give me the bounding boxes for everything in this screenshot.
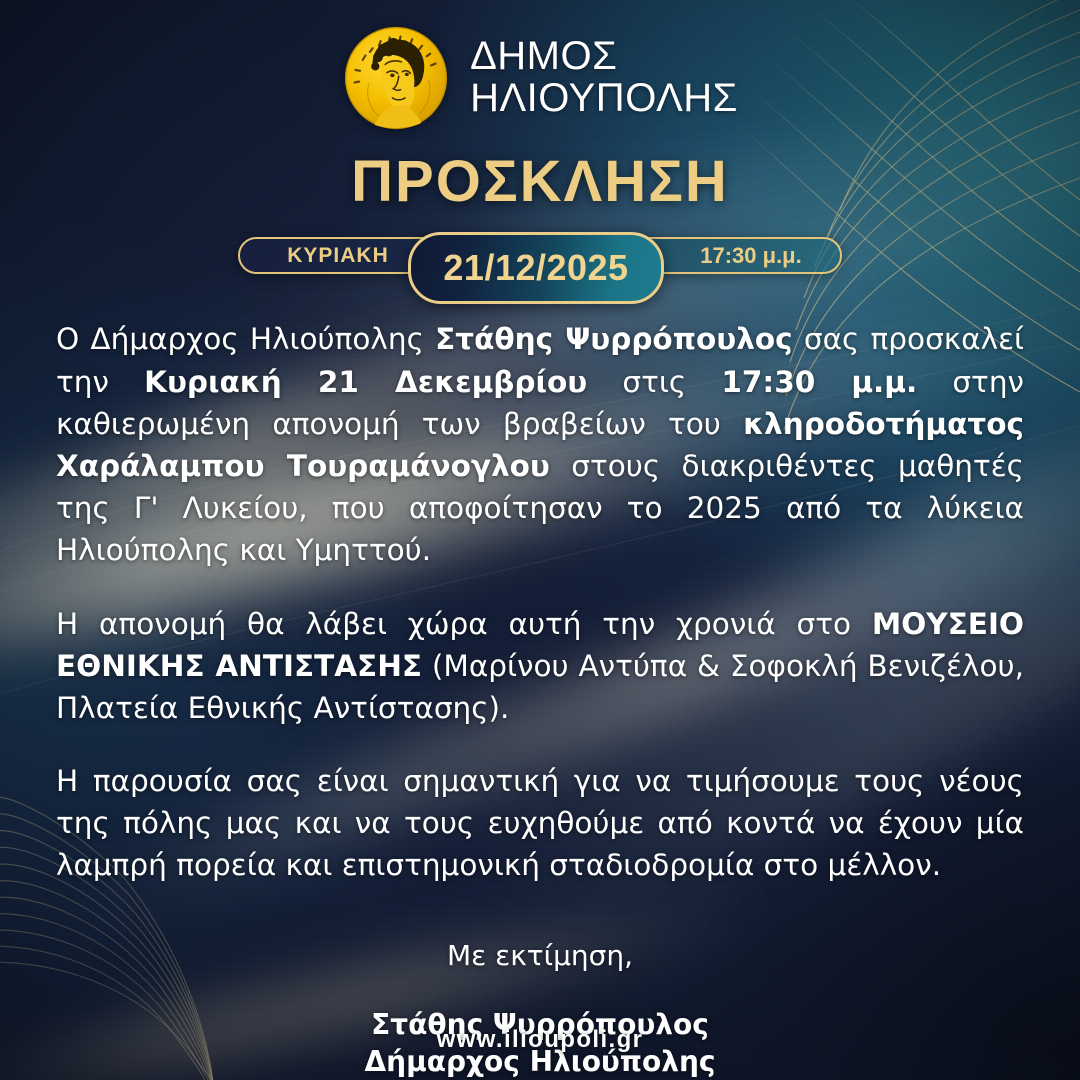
invitation-poster: ΔΗΜΟΣ	[0, 0, 1080, 1080]
body-paragraph-2: Η απονομή θα λάβει χώρα αυτή την χρονιά …	[56, 603, 1024, 730]
organization-name: ΔΗΜΟΣ ΗΛΙΟΥΠΟΛΗΣ	[470, 36, 738, 119]
ilioupoli-coin-emblem-icon: ΔΗΜΟΣ	[342, 24, 450, 132]
page-title: ΠΡΟΣΚΛΗΣΗ	[351, 148, 729, 215]
masthead: ΔΗΜΟΣ	[342, 24, 738, 132]
paragraph-spacer	[56, 729, 1024, 760]
svg-text:ΔΗΜΟΣ: ΔΗΜΟΣ	[379, 24, 412, 26]
closing-line: Με εκτίμηση,	[447, 939, 633, 972]
badge-time: 17:30 μ.μ.	[662, 243, 840, 269]
body-paragraph-1: Ο Δήμαρχος Ηλιούπολης Στάθης Ψυρρόπουλος…	[56, 318, 1024, 571]
org-name-line1: ΔΗΜΟΣ	[470, 36, 738, 78]
badge-weekday: ΚΥΡΙΑΚΗ	[240, 244, 436, 268]
paragraph-spacer	[56, 572, 1024, 603]
website-url[interactable]: www.ilioupoli.gr	[0, 1026, 1080, 1054]
org-name-line2: ΗΛΙΟΥΠΟΛΗΣ	[470, 78, 738, 120]
invitation-body: Ο Δήμαρχος Ηλιούπολης Στάθης Ψυρρόπουλος…	[56, 318, 1024, 886]
date-time-badge: ΚΥΡΙΑΚΗ 21/12/2025 17:30 μ.μ.	[238, 237, 842, 274]
body-paragraph-3: Η παρουσία σας είναι σημαντική για να τι…	[56, 760, 1024, 887]
badge-date: 21/12/2025	[408, 232, 664, 304]
